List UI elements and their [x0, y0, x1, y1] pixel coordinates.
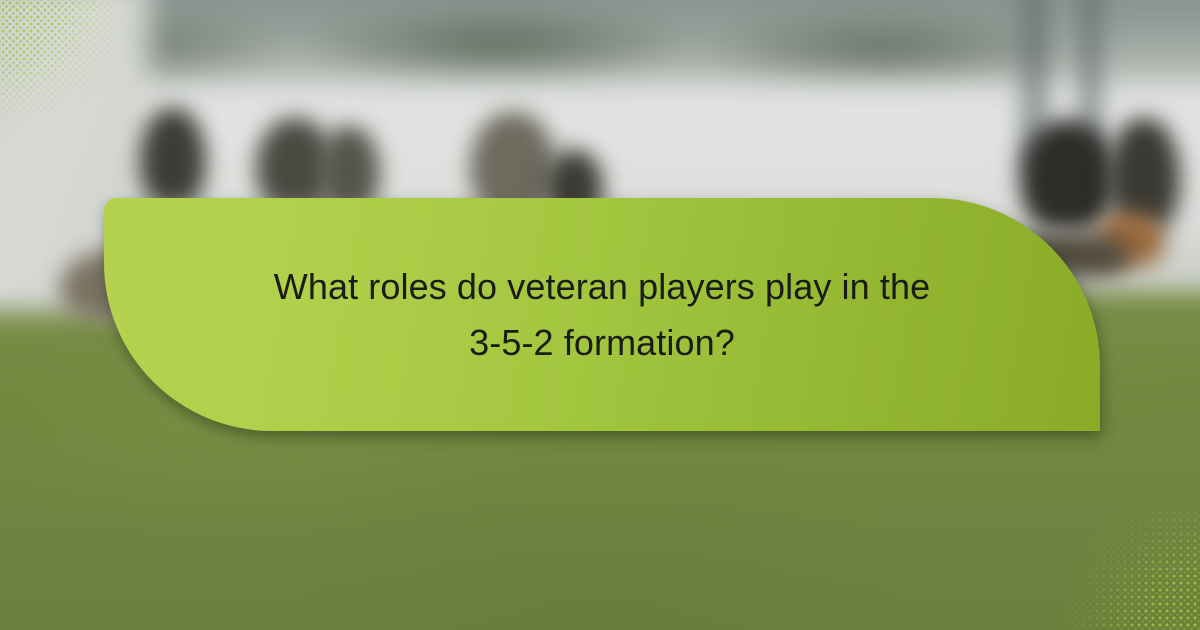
question-card: What roles do veteran players play in th… — [104, 198, 1100, 431]
social-question-card: What roles do veteran players play in th… — [0, 0, 1200, 630]
question-line-1: What roles do veteran players play in th… — [274, 259, 930, 315]
figure-1 — [140, 108, 206, 206]
question-text-block: What roles do veteran players play in th… — [104, 198, 1100, 431]
question-line-2: 3-5-2 formation? — [469, 315, 735, 371]
